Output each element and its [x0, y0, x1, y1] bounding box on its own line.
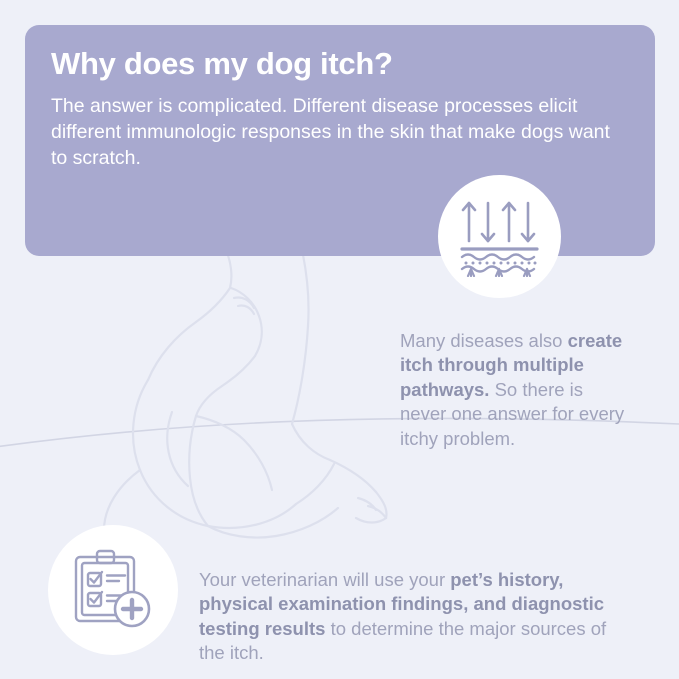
- infographic-canvas: Why does my dog itch? The answer is comp…: [0, 0, 679, 679]
- clipboard-checklist-medical-icon: [70, 547, 156, 633]
- skin-barrier-icon-badge: [438, 175, 561, 298]
- clipboard-icon-badge: [48, 525, 178, 655]
- header-panel: Why does my dog itch? The answer is comp…: [25, 25, 655, 256]
- header-subtitle: The answer is complicated. Different dis…: [51, 94, 629, 172]
- page-title: Why does my dog itch?: [51, 45, 629, 82]
- diagnosis-text-plain-1: Your veterinarian will use your: [199, 569, 450, 590]
- pathways-text-plain-1: Many diseases also: [400, 330, 568, 351]
- pathways-paragraph: Many diseases also create itch through m…: [400, 329, 628, 452]
- diagnosis-paragraph: Your veterinarian will use your pet’s hi…: [199, 568, 624, 666]
- skin-barrier-arrows-icon: [459, 197, 541, 277]
